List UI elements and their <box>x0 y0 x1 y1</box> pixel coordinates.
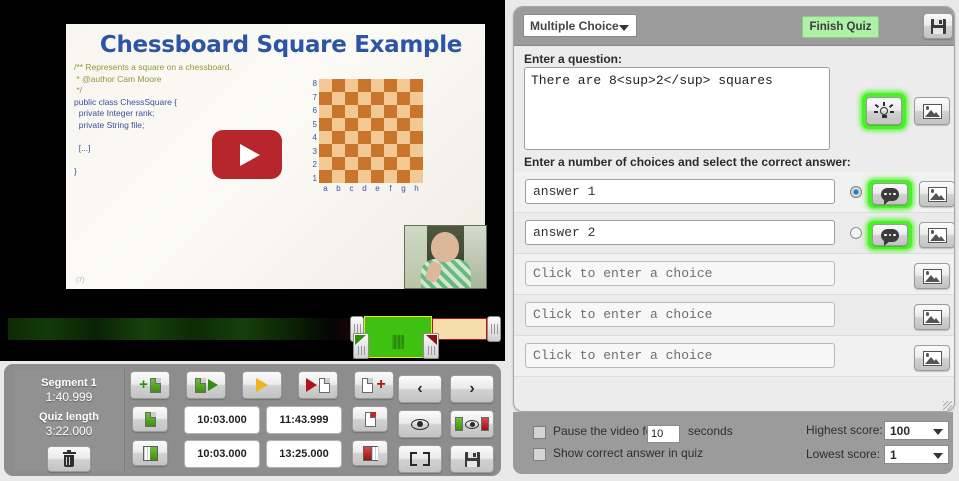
textarea-resize-handle[interactable] <box>943 401 952 410</box>
chessboard-square <box>371 118 384 131</box>
slide-code-comment: /** Represents a square on a chessboard.… <box>74 62 232 95</box>
quiz-start-time-input[interactable]: 10:03.000 <box>184 440 260 468</box>
pause-video-checkbox[interactable] <box>533 426 546 439</box>
lowest-score-value: 1 <box>890 448 897 462</box>
lightbulb-icon <box>874 102 894 120</box>
delete-segment-button[interactable] <box>47 446 91 472</box>
highest-score-select[interactable]: 100 <box>884 421 949 440</box>
timeline-selection-grip[interactable] <box>392 335 404 349</box>
pause-seconds-input[interactable]: 10 <box>647 425 680 443</box>
document-green-icon <box>150 378 161 393</box>
rank-label: 1 <box>305 174 317 183</box>
slide-page-number: (7) <box>76 277 85 284</box>
webcam-inset <box>404 225 487 289</box>
choice-image-button-5[interactable] <box>914 345 950 371</box>
quiz-authoring-app: Chessboard Square Example /** Represents… <box>0 0 959 481</box>
timeline-segment-selection[interactable] <box>364 316 432 358</box>
chessboard-square <box>332 118 345 131</box>
quiz-card: Multiple Choice Finish Quiz Enter a ques… <box>513 6 955 412</box>
chessboard-square <box>319 131 332 144</box>
book-red-icon <box>363 446 378 461</box>
segment-title: Segment 1 <box>14 369 124 390</box>
chessboard-square <box>319 79 332 92</box>
timeline-quiz-range[interactable] <box>432 318 487 340</box>
chessboard-square <box>384 131 397 144</box>
eye-icon <box>411 419 429 430</box>
document-red-icon <box>481 417 489 431</box>
chessboard-square <box>384 79 397 92</box>
chessboard-square <box>345 92 358 105</box>
chessboard-square <box>371 92 384 105</box>
image-icon <box>928 187 947 202</box>
rank-label: 8 <box>305 79 317 88</box>
speech-bubble-icon <box>881 229 899 242</box>
rank-label: 7 <box>305 93 317 102</box>
chessboard-square <box>371 79 384 92</box>
plus-red-icon: + <box>376 380 385 390</box>
grip-icon <box>491 324 498 334</box>
file-label: e <box>371 184 384 193</box>
segment-start-time-input[interactable]: 10:03.000 <box>184 406 260 434</box>
chessboard-square <box>332 92 345 105</box>
quiz-editor-pane: Multiple Choice Finish Quiz Enter a ques… <box>505 0 959 481</box>
chevron-left-icon: ‹ <box>417 381 422 397</box>
chessboard-square <box>358 157 371 170</box>
highest-score-label: Highest score: <box>806 423 883 437</box>
chessboard-square <box>319 157 332 170</box>
grip-icon <box>358 346 366 355</box>
chessboard-square <box>384 144 397 157</box>
choice-input-2[interactable]: answer 2 <box>525 220 835 245</box>
choice-row: Click to enter a choice <box>514 254 954 295</box>
slide-code-body: public class ChessSquare { private Integ… <box>74 97 177 176</box>
previous-button[interactable]: ‹ <box>398 375 442 403</box>
fullscreen-button[interactable] <box>398 445 442 473</box>
chessboard-square <box>345 157 358 170</box>
question-type-value: Multiple Choice <box>530 19 619 33</box>
image-icon <box>923 269 942 284</box>
chessboard-square <box>371 170 384 183</box>
navigation-panel: ‹ › <box>398 368 498 472</box>
transport-row-quiz: 10:03.000 13:25.000 <box>130 440 392 470</box>
rank-label: 3 <box>305 147 317 156</box>
document-green-icon <box>145 412 156 427</box>
chessboard-file-labels: abcdefgh <box>319 184 423 193</box>
timeline-start-marker[interactable] <box>353 333 369 359</box>
choice-row: Click to enter a choice <box>514 295 954 336</box>
chessboard-square <box>358 79 371 92</box>
chessboard-square <box>358 118 371 131</box>
choice-input-5[interactable]: Click to enter a choice <box>525 343 835 368</box>
chessboard-square <box>332 144 345 157</box>
chessboard-square <box>345 79 358 92</box>
spacer <box>14 404 124 411</box>
chessboard-figure: 87654321 abcdefgh <box>305 79 427 199</box>
set-segment-end-button[interactable] <box>352 406 388 432</box>
chessboard-square <box>332 157 345 170</box>
chessboard-square <box>397 79 410 92</box>
quiz-header: Multiple Choice Finish Quiz <box>514 7 954 46</box>
set-quiz-end-button[interactable] <box>352 440 388 466</box>
chessboard-square <box>384 118 397 131</box>
chessboard-square <box>319 92 332 105</box>
trash-icon <box>63 452 76 467</box>
chessboard-square <box>358 105 371 118</box>
set-segment-start-button[interactable] <box>132 406 168 432</box>
start-flag-icon <box>355 335 366 345</box>
choice-row: Click to enter a choice <box>514 336 954 377</box>
chessboard-square <box>345 131 358 144</box>
lowest-score-label: Lowest score: <box>806 447 880 461</box>
play-triangle-icon <box>240 144 260 166</box>
play-overlay-button[interactable] <box>212 130 282 179</box>
chessboard-square <box>397 144 410 157</box>
choice-row: answer 1 <box>514 172 954 213</box>
rank-label: 4 <box>305 133 317 142</box>
choice-image-button-1[interactable] <box>919 181 955 207</box>
chessboard-square <box>384 105 397 118</box>
file-label: f <box>384 184 397 193</box>
chessboard-square <box>397 157 410 170</box>
rank-label: 6 <box>305 106 317 115</box>
save-project-button[interactable] <box>450 445 494 473</box>
question-image-button[interactable] <box>914 97 950 125</box>
show-answer-label: Show correct answer in quiz <box>553 446 703 460</box>
chessboard-square <box>410 79 423 92</box>
editor-control-bar: Segment 1 1:40.999 Quiz length 3:22.000 … <box>4 364 501 476</box>
transport-row-segment: 10:03.000 11:43.999 <box>130 406 392 436</box>
floppy-disk-icon <box>465 452 480 467</box>
rank-label: 5 <box>305 120 317 129</box>
chessboard-square <box>384 92 397 105</box>
chessboard-square <box>384 170 397 183</box>
choice-input-4[interactable]: Click to enter a choice <box>525 302 835 327</box>
segment-info-panel: Segment 1 1:40.999 Quiz length 3:22.000 <box>14 369 125 471</box>
quiz-end-time-input[interactable]: 13:25.000 <box>266 440 342 468</box>
chessboard-square <box>397 118 410 131</box>
next-button[interactable]: › <box>450 375 494 403</box>
choices-label: Enter a number of choices and select the… <box>524 155 851 169</box>
play-triangle-icon <box>208 379 218 391</box>
choice-input-3[interactable]: Click to enter a choice <box>525 261 835 286</box>
transport-controls: + + 10:03.000 11:43.999 <box>130 368 392 472</box>
finish-quiz-button[interactable]: Finish Quiz <box>802 16 879 38</box>
preview-segment-button[interactable] <box>450 410 494 438</box>
hint-button[interactable] <box>866 97 902 125</box>
speech-bubble-icon <box>881 188 899 201</box>
chevron-right-icon: › <box>469 381 474 397</box>
quiz-length-label: Quiz length <box>14 411 124 424</box>
question-type-select[interactable]: Multiple Choice <box>523 14 637 37</box>
question-label: Enter a question: <box>524 52 622 66</box>
add-quiz-button[interactable]: + <box>354 371 394 399</box>
chessboard-square <box>410 92 423 105</box>
video-stage[interactable]: Chessboard Square Example /** Represents… <box>0 0 505 313</box>
document-red-corner-icon <box>365 412 376 427</box>
plus-icon: + <box>139 380 148 390</box>
show-answer-checkbox[interactable] <box>533 448 546 461</box>
preview-button[interactable] <box>398 410 442 438</box>
document-green-icon <box>455 417 463 431</box>
chevron-down-icon <box>933 453 943 459</box>
file-label: d <box>358 184 371 193</box>
chessboard-square <box>345 118 358 131</box>
chevron-down-icon <box>933 429 943 435</box>
quiz-length-value: 3:22.000 <box>14 424 124 438</box>
save-quiz-button[interactable] <box>923 13 953 39</box>
chessboard-square <box>332 131 345 144</box>
slide-title: Chessboard Square Example <box>86 32 476 58</box>
chessboard-square <box>397 131 410 144</box>
grip-icon <box>428 346 436 355</box>
chessboard-square <box>319 105 332 118</box>
choice-feedback-button-2[interactable] <box>872 224 908 246</box>
chessboard-square <box>410 131 423 144</box>
file-label: g <box>397 184 410 193</box>
correct-answer-radio-2[interactable] <box>850 227 862 239</box>
play-triangle-yellow-icon <box>256 378 268 392</box>
add-segment-button[interactable]: + <box>130 371 170 399</box>
play-button[interactable] <box>242 371 282 399</box>
file-label: h <box>410 184 423 193</box>
seconds-label: seconds <box>688 424 733 438</box>
chessboard-square <box>410 157 423 170</box>
lowest-score-select[interactable]: 1 <box>884 445 949 464</box>
chessboard <box>319 79 423 183</box>
chessboard-square <box>384 157 397 170</box>
chessboard-rank-labels: 87654321 <box>305 79 317 183</box>
webcam-person-head <box>431 232 459 262</box>
chessboard-square <box>410 144 423 157</box>
chevron-down-icon <box>619 25 629 31</box>
chessboard-square <box>319 144 332 157</box>
video-editor-pane: Chessboard Square Example /** Represents… <box>0 0 505 481</box>
chessboard-square <box>332 170 345 183</box>
choice-row: answer 2 <box>514 213 954 254</box>
document-icon <box>362 378 373 393</box>
set-quiz-start-button[interactable] <box>132 440 168 466</box>
timeline-end-marker[interactable] <box>423 333 439 359</box>
end-flag-icon <box>426 335 437 345</box>
chessboard-square <box>319 170 332 183</box>
timeline-handle-right[interactable] <box>487 316 501 342</box>
document-icon <box>319 378 330 393</box>
correct-answer-radio-1[interactable] <box>850 186 862 198</box>
choice-input-1[interactable]: answer 1 <box>525 179 835 204</box>
chessboard-square <box>371 144 384 157</box>
file-label: a <box>319 184 332 193</box>
question-input[interactable]: There are 8<sup>2</sup> squares <box>524 67 830 150</box>
chessboard-square <box>410 105 423 118</box>
choices-list: answer 1answer 2Click to enter a choiceC… <box>514 172 954 377</box>
choice-image-button-4[interactable] <box>914 304 950 330</box>
chessboard-square <box>332 79 345 92</box>
chessboard-square <box>358 170 371 183</box>
chessboard-square <box>345 170 358 183</box>
image-icon <box>923 351 942 366</box>
pause-video-label: Pause the video for <box>553 424 656 438</box>
image-icon <box>923 104 942 119</box>
play-triangle-red-icon <box>306 378 317 392</box>
expand-icon <box>410 452 430 466</box>
floppy-disk-icon <box>931 19 946 34</box>
eye-icon <box>465 420 479 429</box>
timeline[interactable] <box>0 313 505 361</box>
choice-feedback-button-1[interactable] <box>872 183 908 205</box>
quiz-options-bar: Pause the video for 10 seconds Show corr… <box>513 412 953 474</box>
highest-score-value: 100 <box>890 424 910 438</box>
book-green-icon <box>143 446 158 461</box>
play-from-segment-button[interactable] <box>186 371 226 399</box>
segment-time: 1:40.999 <box>14 390 124 404</box>
chessboard-square <box>345 105 358 118</box>
chessboard-square <box>397 170 410 183</box>
chessboard-square <box>371 105 384 118</box>
chessboard-square <box>358 144 371 157</box>
chessboard-square <box>332 105 345 118</box>
file-label: b <box>332 184 345 193</box>
segment-end-time-input[interactable]: 11:43.999 <box>266 406 342 434</box>
chessboard-square <box>397 92 410 105</box>
play-to-end-button[interactable] <box>298 371 338 399</box>
chessboard-square <box>319 118 332 131</box>
chessboard-square <box>371 131 384 144</box>
chessboard-square <box>358 92 371 105</box>
chessboard-square <box>345 144 358 157</box>
rank-label: 2 <box>305 160 317 169</box>
transport-row-primary: + + <box>130 371 392 401</box>
chessboard-square <box>358 131 371 144</box>
choice-image-button-3[interactable] <box>914 263 950 289</box>
chessboard-square <box>371 157 384 170</box>
choice-image-button-2[interactable] <box>919 222 955 248</box>
image-icon <box>923 310 942 325</box>
chessboard-square <box>410 170 423 183</box>
chessboard-square <box>397 105 410 118</box>
document-green-icon <box>195 378 206 393</box>
image-icon <box>928 228 947 243</box>
file-label: c <box>345 184 358 193</box>
chessboard-square <box>410 118 423 131</box>
